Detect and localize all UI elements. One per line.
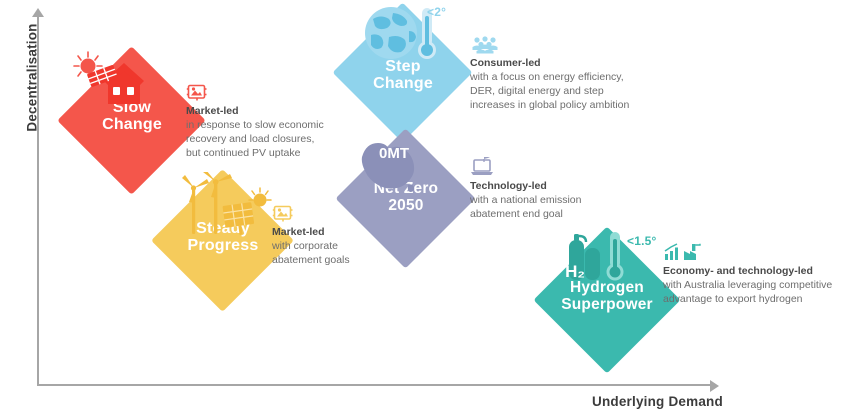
- step-change-badge: <2°: [427, 5, 446, 19]
- step-change-description: Consumer-led with a focus on energy effi…: [470, 36, 660, 113]
- hydrogen-superpower-desc-title: Economy- and technology-led: [663, 265, 862, 278]
- net-zero-2050-description: Technology-led with a national emission …: [470, 157, 630, 222]
- scenario-step-change[interactable]: Step Change <2°: [333, 3, 473, 143]
- x-axis-line: [37, 384, 713, 386]
- people-group-icon: [470, 36, 500, 54]
- hydrogen-superpower-description: Economy- and technology-led with Austral…: [663, 243, 862, 307]
- hydrogen-superpower-chip: H₂: [545, 262, 605, 282]
- step-change-desc-title: Consumer-led: [470, 57, 660, 70]
- scenario-hydrogen-superpower[interactable]: Hydrogen Superpower <1.5° H₂: [533, 226, 681, 374]
- slow-change-desc-title: Market-led: [186, 105, 336, 118]
- net-zero-2050-desc-title: Technology-led: [470, 180, 630, 193]
- wind-turbines-solar-icon: [174, 172, 274, 238]
- net-zero-2050-chip: 0MT: [364, 145, 424, 162]
- hydrogen-superpower-badge: <1.5°: [627, 234, 657, 248]
- hydrogen-superpower-desc-body: with Australia leveraging competitive ad…: [663, 279, 862, 307]
- house-solar-sun-icon: [70, 49, 148, 111]
- solar-panel-icon: [186, 84, 208, 102]
- net-zero-2050-desc-body: with a national emission abatement end g…: [470, 194, 630, 222]
- x-axis-arrow-icon: [710, 380, 719, 392]
- chart-factory-icon: [663, 243, 703, 262]
- laptop-icon: [470, 157, 496, 177]
- solar-panel-icon: [272, 205, 294, 223]
- slow-change-desc-body: in response to slow economic recovery an…: [186, 119, 336, 161]
- scenario-matrix-diagram: Decentralisation Underlying Demand Slow …: [0, 0, 862, 417]
- y-axis-label: Decentralisation: [25, 0, 40, 158]
- scenario-net-zero-2050[interactable]: Net Zero 2050 0MT: [336, 129, 476, 269]
- step-change-desc-body: with a focus on energy efficiency, DER, …: [470, 71, 660, 113]
- slow-change-description: Market-led in response to slow economic …: [186, 84, 336, 161]
- x-axis-label: Underlying Demand: [592, 394, 723, 409]
